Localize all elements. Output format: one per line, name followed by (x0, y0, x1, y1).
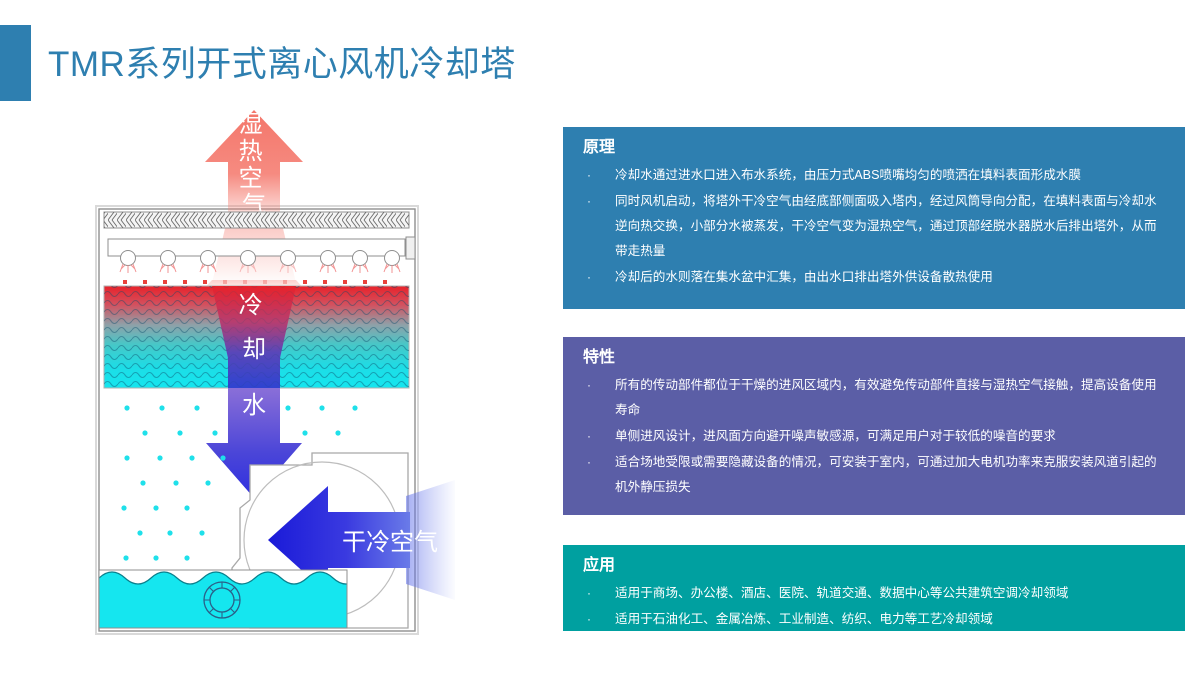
bullet-icon: · (587, 450, 591, 475)
label-dry-cold-air: 干冷空气 (342, 529, 438, 556)
panel-principle-title: 原理 (583, 139, 1167, 157)
list-item-text: 适用于商场、办公楼、酒店、医院、轨道交通、数据中心等公共建筑空调冷却领域 (615, 586, 1068, 600)
list-item: · 适用于商场、办公楼、酒店、医院、轨道交通、数据中心等公共建筑空调冷却领域 (581, 581, 1167, 606)
bullet-icon: · (587, 373, 591, 398)
list-item: · 所有的传动部件都位于干燥的进风区域内，有效避免传动部件直接与湿热空气接触，提… (581, 373, 1167, 423)
panel-applications: 应用 · 适用于商场、办公楼、酒店、医院、轨道交通、数据中心等公共建筑空调冷却领… (563, 545, 1185, 631)
panel-applications-list: · 适用于商场、办公楼、酒店、医院、轨道交通、数据中心等公共建筑空调冷却领域 ·… (581, 581, 1167, 632)
list-item: · 冷却水通过进水口进入布水系统，由压力式ABS喷嘴均匀的喷洒在填料表面形成水膜 (581, 163, 1167, 188)
page-title: TMR系列开式离心风机冷却塔 (48, 36, 516, 87)
label-moist-hot-air: 湿 热 空 气 (239, 111, 270, 219)
list-item-text: 冷却水通过进水口进入布水系统，由压力式ABS喷嘴均匀的喷洒在填料表面形成水膜 (615, 168, 1081, 182)
list-item: · 适合场地受限或需要隐藏设备的情况，可安装于室内，可通过加大电机功率来克服安装… (581, 450, 1167, 500)
list-item-text: 单侧进风设计，进风面方向避开噪声敏感源，可满足用户对于较低的噪音的要求 (615, 429, 1056, 443)
list-item: · 适用于石油化工、金属冶炼、工业制造、纺织、电力等工艺冷却领域 (581, 607, 1167, 632)
list-item-text: 所有的传动部件都位于干燥的进风区域内，有效避免传动部件直接与湿热空气接触，提高设… (615, 378, 1157, 417)
header-accent-bar (0, 25, 31, 101)
list-item: · 单侧进风设计，进风面方向避开噪声敏感源，可满足用户对于较低的噪音的要求 (581, 424, 1167, 449)
cooling-tower-diagram: 湿 热 空 气 (90, 108, 455, 648)
panel-principle: 原理 · 冷却水通过进水口进入布水系统，由压力式ABS喷嘴均匀的喷洒在填料表面形… (563, 127, 1185, 309)
panel-applications-title: 应用 (583, 557, 1167, 575)
panel-features-title: 特性 (583, 349, 1167, 367)
list-item-text: 适合场地受限或需要隐藏设备的情况，可安装于室内，可通过加大电机功率来克服安装风道… (615, 455, 1157, 494)
label-water: 水 (242, 392, 266, 419)
drift-eliminator (104, 212, 409, 228)
panel-features: 特性 · 所有的传动部件都位于干燥的进风区域内，有效避免传动部件直接与湿热空气接… (563, 337, 1185, 515)
list-item: · 同时风机启动，将塔外干冷空气由经底部侧面吸入塔内，经过风筒导向分配，在填料表… (581, 189, 1167, 264)
bullet-icon: · (587, 581, 591, 606)
bullet-icon: · (587, 424, 591, 449)
panel-features-list: · 所有的传动部件都位于干燥的进风区域内，有效避免传动部件直接与湿热空气接触，提… (581, 373, 1167, 500)
bullet-icon: · (587, 189, 591, 214)
collection-basin (99, 570, 359, 628)
bullet-icon: · (587, 607, 591, 632)
list-item-text: 同时风机启动，将塔外干冷空气由经底部侧面吸入塔内，经过风筒导向分配，在填料表面与… (615, 194, 1157, 258)
bullet-icon: · (587, 163, 591, 188)
list-item-text: 冷却后的水则落在集水盆中汇集，由出水口排出塔外供设备散热使用 (615, 270, 993, 284)
fill-media: 冷 却 (104, 286, 409, 388)
list-item-text: 适用于石油化工、金属冶炼、工业制造、纺织、电力等工艺冷却领域 (615, 612, 993, 626)
list-item: · 冷却后的水则落在集水盆中汇集，由出水口排出塔外供设备散热使用 (581, 265, 1167, 290)
panel-principle-list: · 冷却水通过进水口进入布水系统，由压力式ABS喷嘴均匀的喷洒在填料表面形成水膜… (581, 163, 1167, 290)
bullet-icon: · (587, 265, 591, 290)
